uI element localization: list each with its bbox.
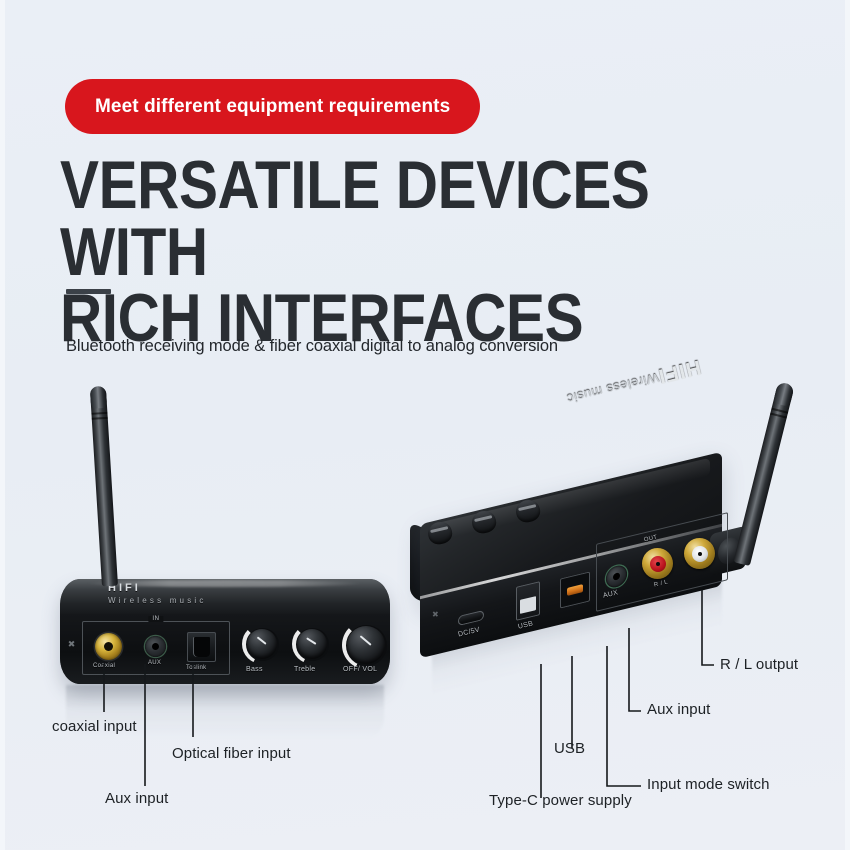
coaxial-port-label: Coaxial: [93, 663, 115, 669]
page-title: VERSATILE DEVICES WITH RICH INTERFACES: [60, 152, 696, 352]
aux-jack[interactable]: [145, 636, 166, 657]
right-device-angled-view: Wireless musicHIFI ✖ DC/5V USB AUX OUT R…: [410, 370, 810, 700]
knob-pointer: [360, 635, 372, 646]
antenna-cap: [90, 386, 107, 409]
knob-cap: [347, 626, 385, 664]
device-tagline-label: Wireless music: [565, 370, 660, 407]
device-tagline-label: Wireless music: [108, 596, 207, 605]
page-subtitle: Bluetooth receiving mode & fiber coaxial…: [66, 336, 558, 356]
treble-knob[interactable]: [292, 624, 332, 664]
callout-type-c-power-supply: Type-C power supply: [489, 792, 632, 809]
switch-slider[interactable]: [567, 584, 583, 596]
coaxial-jack[interactable]: [95, 633, 122, 660]
usb-a-port[interactable]: [516, 581, 540, 621]
rca-output-right[interactable]: [642, 548, 673, 579]
treble-knob-label: Treble: [294, 666, 315, 673]
screw-icon: ✖: [67, 640, 76, 649]
callout-rl-output: R / L output: [720, 656, 798, 673]
volume-knob-label: OFF/ VOL: [343, 666, 377, 673]
callout-input-mode-switch: Input mode switch: [647, 776, 770, 793]
device-front-panel: ✖ ✖ IN Coaxial AUX Toslink: [60, 614, 390, 684]
screw-icon: ✖: [432, 610, 439, 619]
callout-usb: USB: [554, 740, 585, 757]
aux-port-label: AUX: [148, 660, 161, 666]
knob-cap: [297, 629, 327, 659]
input-group-box: IN Coaxial AUX Toslink: [82, 621, 230, 675]
antenna-ring: [91, 412, 107, 415]
headline-line-1: VERSATILE DEVICES WITH: [60, 147, 650, 290]
knob-pointer: [257, 636, 267, 644]
rca-output-left[interactable]: [684, 538, 715, 569]
callout-coaxial-input: coaxial input: [52, 718, 137, 735]
left-device-front-view: HIFI Wireless music ✖ ✖ IN Coaxial AUX T…: [60, 386, 405, 706]
callout-optical-fiber-input: Optical fiber input: [172, 745, 291, 762]
input-group-label: IN: [148, 616, 163, 622]
knob-pointer: [306, 637, 316, 645]
device-branding: Wireless musicHIFI: [558, 354, 704, 411]
antenna-ring: [92, 417, 108, 420]
rca-pin: [656, 562, 660, 566]
title-divider: [66, 289, 111, 294]
antenna-cap: [773, 381, 795, 406]
knob-cap: [247, 629, 277, 659]
callout-aux-input-right: Aux input: [647, 701, 710, 718]
device-brand-label: HIFI: [656, 354, 704, 388]
bass-knob[interactable]: [242, 624, 282, 664]
promo-page: Meet different equipment requirements VE…: [0, 0, 850, 850]
toslink-port[interactable]: [187, 632, 216, 662]
callout-aux-input-left: Aux input: [105, 790, 168, 807]
toslink-port-label: Toslink: [186, 665, 206, 671]
antenna-ring: [770, 413, 787, 419]
volume-knob[interactable]: [342, 621, 390, 669]
antenna-icon: [733, 381, 794, 566]
badge-label: Meet different equipment requirements: [95, 96, 450, 118]
headline-badge: Meet different equipment requirements: [65, 79, 480, 134]
bass-knob-label: Bass: [246, 666, 263, 673]
rca-pin: [698, 552, 702, 556]
antenna-icon: [90, 386, 118, 587]
device-body: HIFI Wireless music ✖ ✖ IN Coaxial AUX T…: [60, 579, 390, 684]
